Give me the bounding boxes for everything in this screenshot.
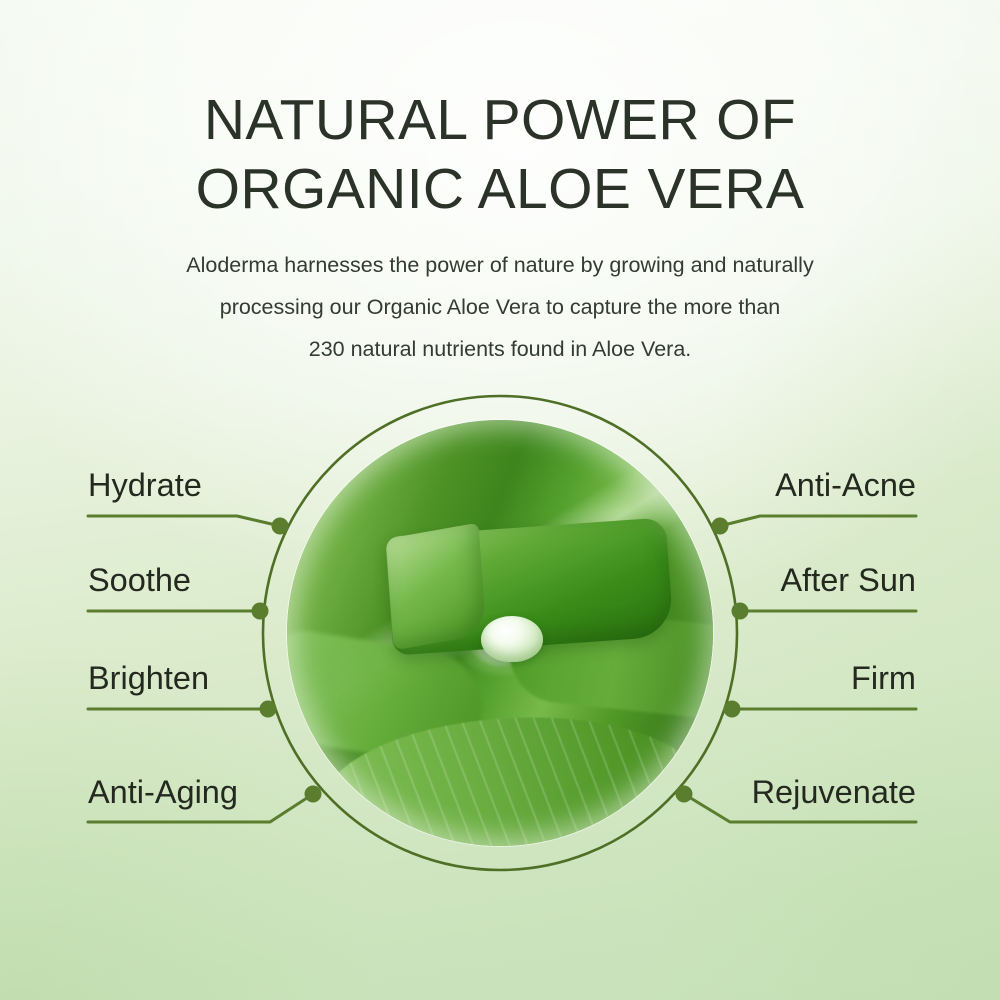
title-line-1: NATURAL POWER OF — [204, 88, 796, 152]
feature-label-rejuvenate[interactable]: Rejuvenate — [0, 775, 916, 809]
feature-label-firm[interactable]: Firm — [0, 661, 916, 695]
connector-dot-soothe — [252, 603, 269, 620]
connector-dot-firm — [724, 701, 741, 718]
connector-dot-anti-acne — [712, 518, 729, 535]
title-line-2: ORGANIC ALOE VERA — [0, 155, 1000, 224]
connector-dot-after-sun — [732, 603, 749, 620]
aloe-gel-droplet — [481, 616, 543, 662]
feature-label-after-sun[interactable]: After Sun — [0, 563, 916, 597]
feature-label-anti-acne[interactable]: Anti-Acne — [0, 468, 916, 502]
connector-line-anti-acne — [720, 516, 916, 526]
connector-dot-hydrate — [272, 518, 289, 535]
subtitle-line-3: 230 natural nutrients found in Aloe Vera… — [0, 328, 1000, 370]
connector-dot-brighten — [260, 701, 277, 718]
page-title: NATURAL POWER OF ORGANIC ALOE VERA — [0, 0, 1000, 224]
page-subtitle: Aloderma harnesses the power of nature b… — [0, 224, 1000, 370]
subtitle-line-2: processing our Organic Aloe Vera to capt… — [0, 286, 1000, 328]
connector-line-hydrate — [88, 516, 280, 526]
header-block: NATURAL POWER OF ORGANIC ALOE VERA Alode… — [0, 0, 1000, 370]
aloe-vera-infographic-poster: NATURAL POWER OF ORGANIC ALOE VERA Alode… — [0, 0, 1000, 1000]
subtitle-line-1: Aloderma harnesses the power of nature b… — [0, 244, 1000, 286]
